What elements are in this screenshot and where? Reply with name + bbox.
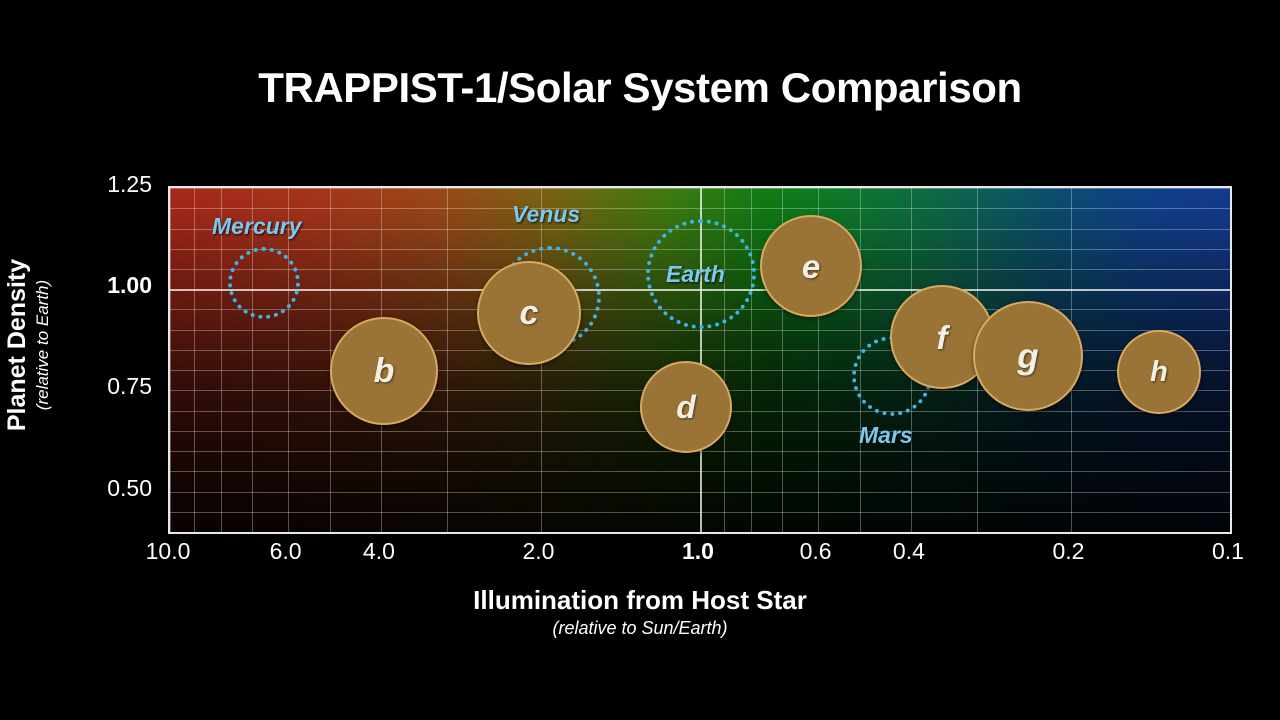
y-axis-tick-label: 1.00: [92, 272, 152, 299]
data-bubbles: bcdefghMercuryVenusEarthMars: [170, 188, 1230, 532]
page-title: TRAPPIST-1/Solar System Comparison: [0, 64, 1280, 112]
x-axis-tick-label: 0.2: [1023, 538, 1113, 565]
x-axis-tick-label: 10.0: [123, 538, 213, 565]
planet-bubble-d: d: [640, 361, 732, 453]
x-axis-tick-label: 2.0: [493, 538, 583, 565]
planet-bubble-label: h: [1150, 358, 1168, 387]
x-axis-title: Illumination from Host Star (relative to…: [0, 585, 1280, 639]
reference-label-earth: Earth: [666, 261, 725, 288]
y-axis-title-main: Planet Density: [3, 259, 31, 431]
plot-inner: bcdefghMercuryVenusEarthMars: [170, 188, 1230, 532]
x-axis-tick-label: 6.0: [241, 538, 331, 565]
planet-bubble-b: b: [330, 317, 438, 425]
reference-label-mercury: Mercury: [212, 213, 301, 240]
planet-bubble-label: f: [937, 321, 948, 354]
x-axis-tick-label: 1.0: [653, 538, 743, 565]
plot-area: bcdefghMercuryVenusEarthMars: [168, 186, 1232, 534]
reference-label-mars: Mars: [859, 422, 913, 449]
planet-bubble-label: e: [802, 250, 820, 283]
y-axis-title: Planet Density (relative to Earth): [3, 195, 53, 495]
planet-bubble-label: d: [676, 391, 696, 423]
planet-bubble-g: g: [973, 301, 1083, 411]
y-axis-tick-label: 0.75: [92, 373, 152, 400]
x-axis-title-sub: (relative to Sun/Earth): [0, 618, 1280, 639]
planet-bubble-label: b: [374, 354, 395, 388]
x-axis-tick-label: 4.0: [334, 538, 424, 565]
planet-bubble-h: h: [1117, 330, 1201, 414]
y-axis-title-sub: (relative to Earth): [33, 195, 53, 495]
x-axis-tick-label: 0.4: [864, 538, 954, 565]
chart-canvas: TRAPPIST-1/Solar System Comparison bcdef…: [0, 0, 1280, 720]
planet-bubble-e: e: [760, 215, 862, 317]
planet-bubble-label: c: [520, 296, 539, 330]
x-axis-tick-label: 0.6: [771, 538, 861, 565]
reference-circle-mercury: [228, 247, 300, 319]
y-axis-tick-label: 0.50: [92, 475, 152, 502]
y-axis-tick-label: 1.25: [92, 171, 152, 198]
x-axis-tick-label: 0.1: [1183, 538, 1273, 565]
planet-bubble-c: c: [477, 261, 581, 365]
x-axis-title-main: Illumination from Host Star: [473, 585, 807, 615]
planet-bubble-label: g: [1017, 339, 1038, 374]
reference-label-venus: Venus: [512, 201, 580, 228]
